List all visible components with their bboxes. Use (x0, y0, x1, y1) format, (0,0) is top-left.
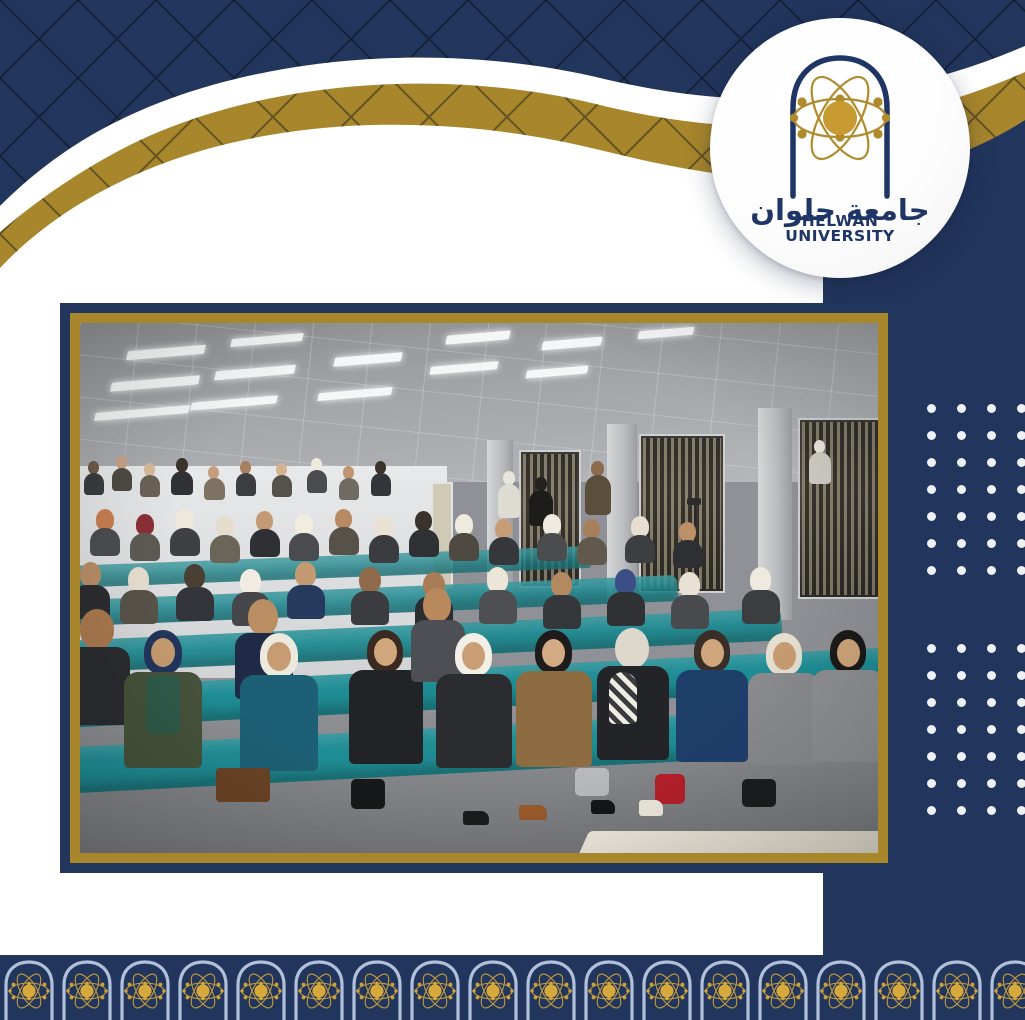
dot (987, 725, 996, 734)
dot (987, 485, 996, 494)
atom-arch-unit-wrap (696, 955, 754, 1020)
atom-arch-unit-wrap (406, 955, 464, 1020)
dot (1017, 485, 1025, 494)
atom-arch-unit-wrap (174, 955, 232, 1020)
bottom-atom-border (0, 955, 1025, 1020)
dot (1017, 671, 1025, 680)
handbag (575, 768, 609, 796)
dot (1017, 779, 1025, 788)
lecture-hall-scene (80, 323, 878, 853)
dot (957, 752, 966, 761)
dot (957, 644, 966, 653)
handbag (216, 768, 270, 802)
atom-arch-unit-wrap (464, 955, 522, 1020)
event-photo: Audience seated in a university lecture … (80, 323, 878, 853)
atom-arch-unit-wrap (522, 955, 580, 1020)
atom-arch-unit-wrap (812, 955, 870, 1020)
atom-arch-unit-wrap (986, 955, 1025, 1020)
atom-arch-unit (116, 955, 174, 1020)
atom-arch-unit-wrap (580, 955, 638, 1020)
dot (987, 698, 996, 707)
atom-arch-unit-wrap (928, 955, 986, 1020)
dot (1017, 806, 1025, 815)
atom-arch-unit-wrap (0, 955, 58, 1020)
atom-arch-unit-wrap (754, 955, 812, 1020)
helwan-university-logo: جامعة حلوان HELWAN UNIVERSITY (710, 18, 970, 278)
atom-arch-unit (986, 955, 1025, 1020)
dot (957, 539, 966, 548)
dot (927, 539, 936, 548)
dot (957, 485, 966, 494)
dot (1017, 566, 1025, 575)
atom-arch-unit-wrap (58, 955, 116, 1020)
dot-grid-top (927, 404, 1025, 575)
poster-canvas: جامعة حلوان HELWAN UNIVERSITY Audience s… (0, 0, 1025, 1020)
dot (1017, 431, 1025, 440)
atom-arch-unit-wrap (290, 955, 348, 1020)
dot (957, 671, 966, 680)
dot (987, 539, 996, 548)
dot (1017, 698, 1025, 707)
dot (927, 404, 936, 413)
logo-english-name: HELWAN UNIVERSITY (745, 214, 935, 245)
handbag (655, 774, 685, 804)
dot (987, 431, 996, 440)
dot (927, 485, 936, 494)
dot (957, 698, 966, 707)
dot (987, 404, 996, 413)
atom-arch-unit (580, 955, 638, 1020)
footwear (519, 805, 547, 820)
dot (987, 752, 996, 761)
atom-arch-unit (232, 955, 290, 1020)
dot (957, 512, 966, 521)
dot (927, 698, 936, 707)
dot (927, 806, 936, 815)
atom-arch-unit-wrap (638, 955, 696, 1020)
dot (927, 725, 936, 734)
atom-arch-unit (464, 955, 522, 1020)
dot (987, 779, 996, 788)
dot (957, 725, 966, 734)
window (798, 418, 878, 598)
dot (927, 752, 936, 761)
window (639, 434, 725, 593)
dot (957, 779, 966, 788)
handbag (351, 779, 385, 809)
dot (957, 566, 966, 575)
dot (927, 779, 936, 788)
dot (1017, 725, 1025, 734)
atom-arch-unit-wrap (870, 955, 928, 1020)
dot (987, 512, 996, 521)
dot (957, 458, 966, 467)
dot (1017, 458, 1025, 467)
atom-arch-unit (174, 955, 232, 1020)
dot (927, 431, 936, 440)
dot (987, 566, 996, 575)
dot (927, 512, 936, 521)
dot (987, 458, 996, 467)
dot (927, 671, 936, 680)
handbag (742, 779, 776, 807)
dot (987, 644, 996, 653)
atom-arch-unit (696, 955, 754, 1020)
atom-arch-unit (58, 955, 116, 1020)
atom-arch-unit (928, 955, 986, 1020)
atom-arch-unit (754, 955, 812, 1020)
atom-arch-unit (0, 955, 58, 1020)
dot (987, 806, 996, 815)
dot (1017, 752, 1025, 761)
dot (927, 644, 936, 653)
atom-arch-unit (348, 955, 406, 1020)
atom-arch-unit (522, 955, 580, 1020)
atom-arch-unit (638, 955, 696, 1020)
atom-arch-unit-wrap (116, 955, 174, 1020)
dot (1017, 539, 1025, 548)
dot (957, 431, 966, 440)
dot (957, 806, 966, 815)
dot (927, 458, 936, 467)
footwear (591, 800, 615, 814)
dot (957, 404, 966, 413)
dot (987, 671, 996, 680)
atom-arch-unit-wrap (232, 955, 290, 1020)
atom-arch-unit (290, 955, 348, 1020)
dot (1017, 644, 1025, 653)
dot (1017, 512, 1025, 521)
dot-grid-bottom (927, 644, 1025, 815)
atom-arch-unit-wrap (348, 955, 406, 1020)
footwear (639, 800, 663, 816)
dot (927, 566, 936, 575)
dot (1017, 404, 1025, 413)
floral-rug (577, 831, 878, 853)
atom-arch-unit (812, 955, 870, 1020)
footwear (463, 811, 489, 825)
atom-arch-unit (870, 955, 928, 1020)
atom-arch-unit (406, 955, 464, 1020)
